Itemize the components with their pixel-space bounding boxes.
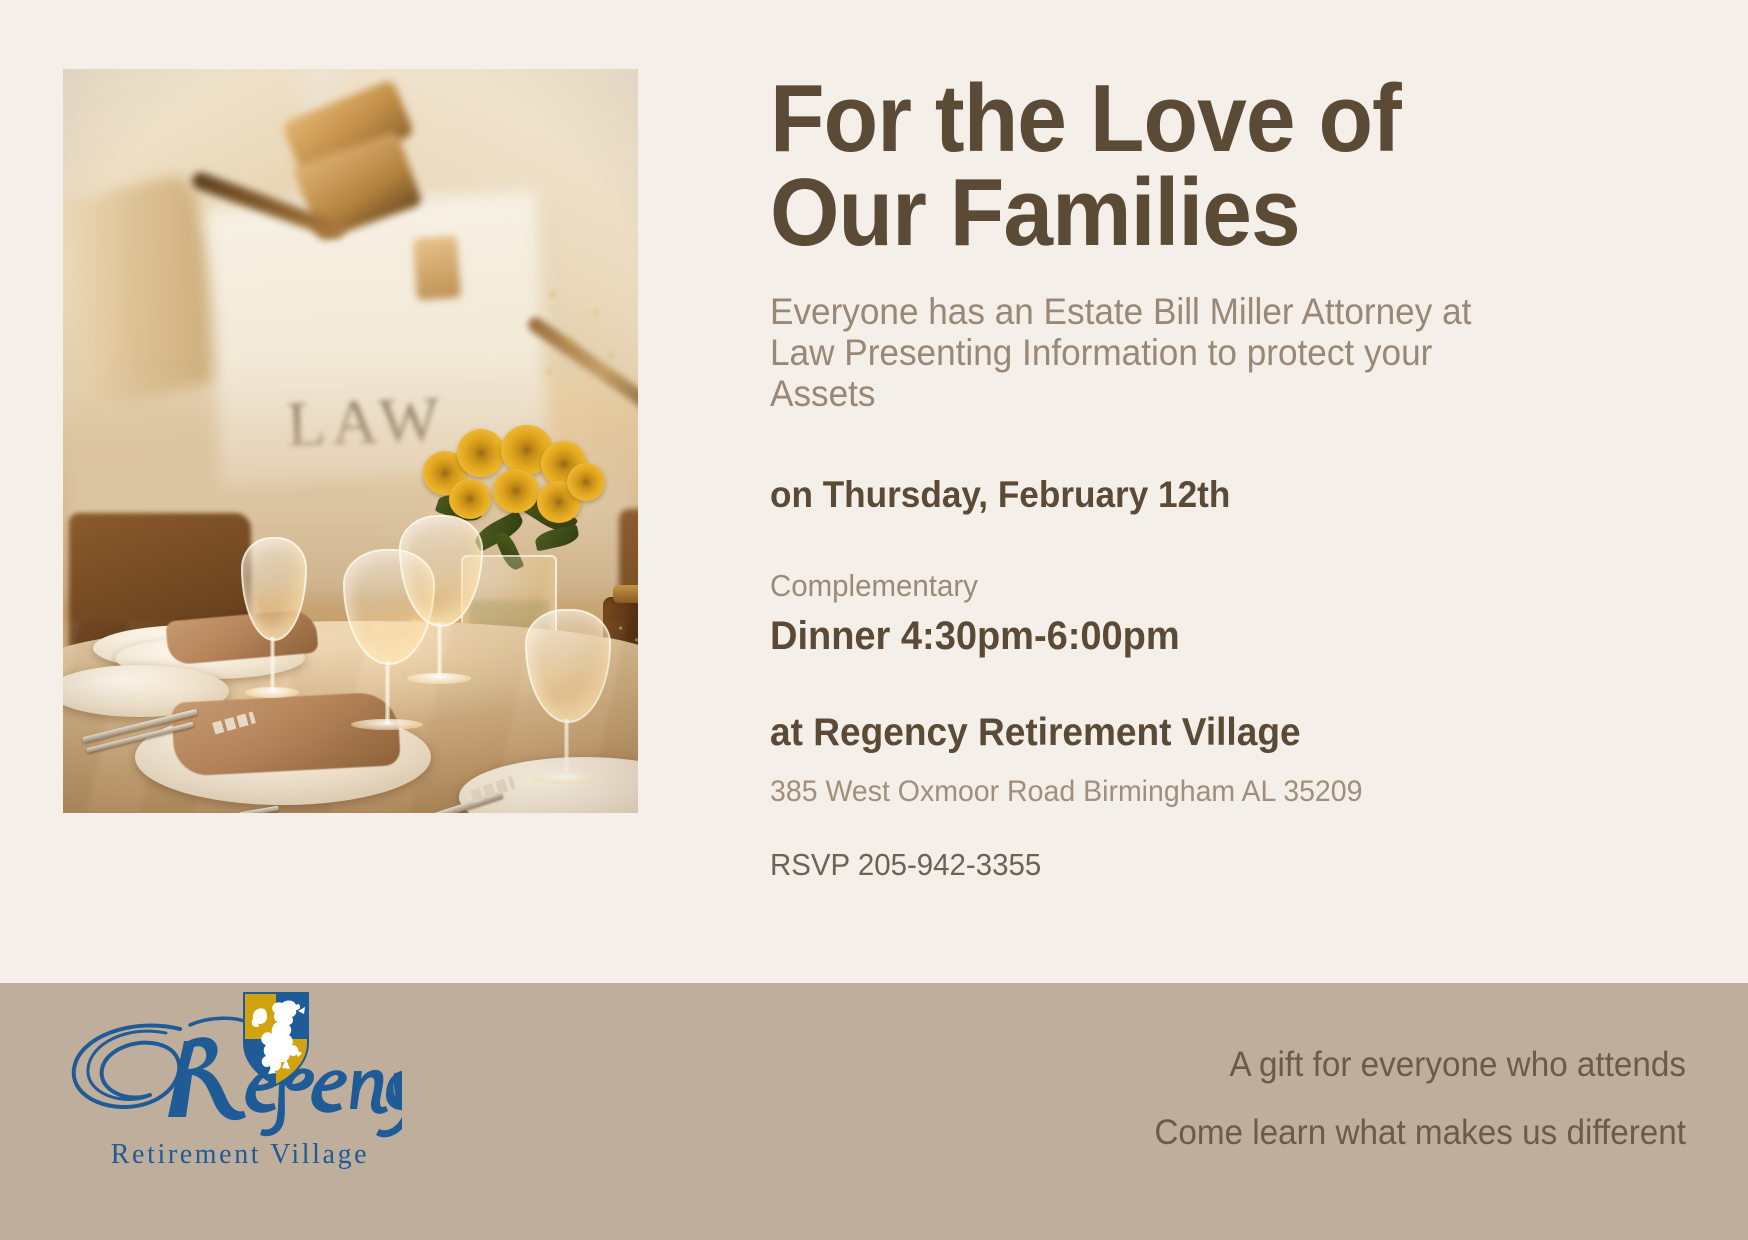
photo-scene: LAW (63, 69, 638, 813)
event-text-column: For the Love of Our Families Everyone ha… (770, 72, 1650, 883)
flower (449, 479, 491, 519)
flower (567, 463, 605, 501)
event-description: Everyone has an Estate Bill Miller Attor… (770, 292, 1492, 414)
logo-tagline: Retirement Village (90, 1139, 390, 1171)
dinner-time: Dinner 4:30pm-6:00pm (770, 614, 1606, 659)
content-area: LAW (0, 0, 1748, 983)
footer-band: Retirement Village A gift for everyone w… (0, 983, 1748, 1240)
footer-message-line-1: A gift for everyone who attends (831, 1045, 1686, 1085)
leaf (534, 525, 581, 552)
flower (457, 429, 505, 477)
page-title: For the Love of Our Families (770, 72, 1588, 260)
footer-message-line-2: Come learn what makes us different (831, 1113, 1686, 1153)
event-photo: LAW (63, 69, 638, 813)
regency-logo[interactable]: Retirement Village (62, 1001, 402, 1211)
event-date: on Thursday, February 12th (770, 474, 1606, 516)
venue-name: at Regency Retirement Village (770, 711, 1606, 755)
flower (493, 469, 539, 513)
headline-line-1: For the Love of (770, 65, 1401, 172)
headline-line-2: Our Families (770, 159, 1300, 266)
footer-message: A gift for everyone who attends Come lea… (786, 1045, 1686, 1153)
napkin (171, 691, 401, 777)
venue-address: 385 West Oxmoor Road Birmingham AL 35209 (770, 775, 1606, 809)
flyer-canvas: LAW (0, 0, 1748, 1240)
complementary-label: Complementary (770, 568, 1606, 604)
gavel-sound-block (413, 236, 461, 301)
regency-script-wordmark (62, 1007, 402, 1142)
heraldic-shield-icon (242, 991, 310, 1087)
rsvp-phone[interactable]: RSVP 205-942-3355 (770, 847, 1606, 883)
